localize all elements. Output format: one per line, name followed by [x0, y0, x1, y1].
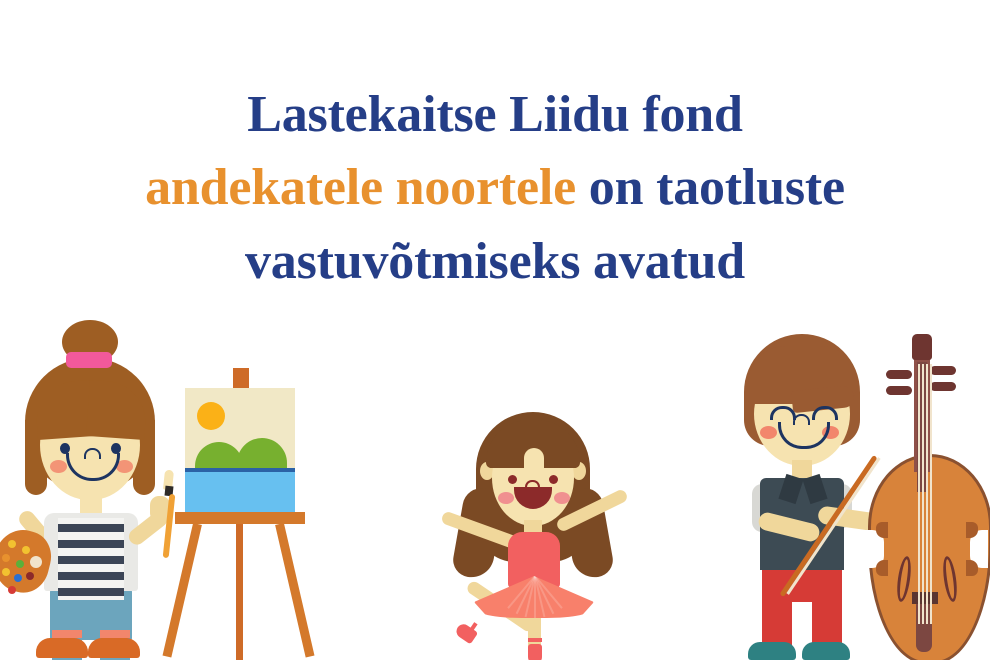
page-title: Lastekaitse Liidu fond andekatele noorte…: [0, 78, 990, 298]
illustration-girl-painting: [0, 320, 190, 660]
cheek-left: [498, 492, 514, 504]
paint-palette-icon: [0, 522, 62, 598]
fringe-part: [524, 448, 544, 468]
cello-bridge: [912, 592, 938, 604]
palette-dot: [2, 568, 10, 576]
painted-sun-icon: [197, 402, 225, 430]
hair-tie-icon: [66, 352, 112, 368]
cello-string: [926, 364, 928, 624]
palette-dot: [8, 586, 16, 594]
illustration-cello: [864, 334, 990, 660]
ballet-shoe-standing: [528, 644, 542, 660]
cheek-left: [50, 460, 67, 473]
cello-scroll: [912, 334, 932, 360]
headline-line-2-rest: on taotluste: [576, 159, 845, 216]
shoe-left: [748, 642, 796, 660]
headline-line-1-text: Lastekaitse Liidu fond: [247, 86, 743, 143]
palette-dot: [2, 554, 10, 562]
cello-corner: [876, 560, 888, 576]
shirt-stripe: [58, 588, 124, 596]
palette-dot: [30, 556, 42, 568]
easel-leg-center: [236, 524, 243, 660]
palette-dot: [22, 546, 30, 554]
cello-corner: [966, 560, 978, 576]
poster-canvas: Lastekaitse Liidu fond andekatele noorte…: [0, 0, 990, 660]
palette-dot: [8, 540, 16, 548]
eye-right: [549, 475, 558, 484]
cello-string: [922, 364, 924, 624]
headline-line-2: andekatele noortele on taotluste: [0, 151, 990, 224]
cheek-right: [554, 492, 570, 504]
shoe-ribbon-standing: [528, 638, 542, 642]
shoe-left: [36, 638, 88, 658]
cello-string: [930, 364, 932, 624]
cello-corner: [876, 522, 888, 538]
eye-left: [508, 475, 517, 484]
shirt-stripe: [58, 572, 124, 580]
cello-tuning-peg: [930, 382, 956, 391]
shoe-right: [88, 638, 140, 658]
shoe-right: [802, 642, 850, 660]
painted-water: [185, 472, 295, 516]
cello-tuning-peg: [930, 366, 956, 375]
illustration-easel: [175, 368, 305, 660]
cello-tuning-peg: [886, 370, 912, 379]
shirt-stripe: [58, 556, 124, 564]
easel-leg-right: [275, 523, 314, 658]
shirt-stripe: [58, 524, 124, 532]
cello-tuning-peg: [886, 386, 912, 395]
headline-line-3: vastuvõtmiseks avatud: [0, 225, 990, 298]
sock-right: [100, 630, 130, 638]
headline-accent-text: andekatele noortele: [145, 159, 576, 216]
headline-line-1: Lastekaitse Liidu fond: [0, 78, 990, 151]
easel-tray: [175, 512, 305, 524]
headline-line-3-text: vastuvõtmiseks avatud: [245, 233, 745, 290]
shirt-stripe: [58, 540, 124, 548]
cello-string: [918, 364, 920, 624]
palette-dot: [26, 572, 34, 580]
illustration-ballerina: [436, 408, 632, 660]
sock-left: [52, 630, 82, 638]
palette-dot: [14, 574, 22, 582]
tutu-skirt: [474, 576, 594, 618]
palette-dot: [16, 560, 24, 568]
cheek-left: [760, 426, 777, 439]
